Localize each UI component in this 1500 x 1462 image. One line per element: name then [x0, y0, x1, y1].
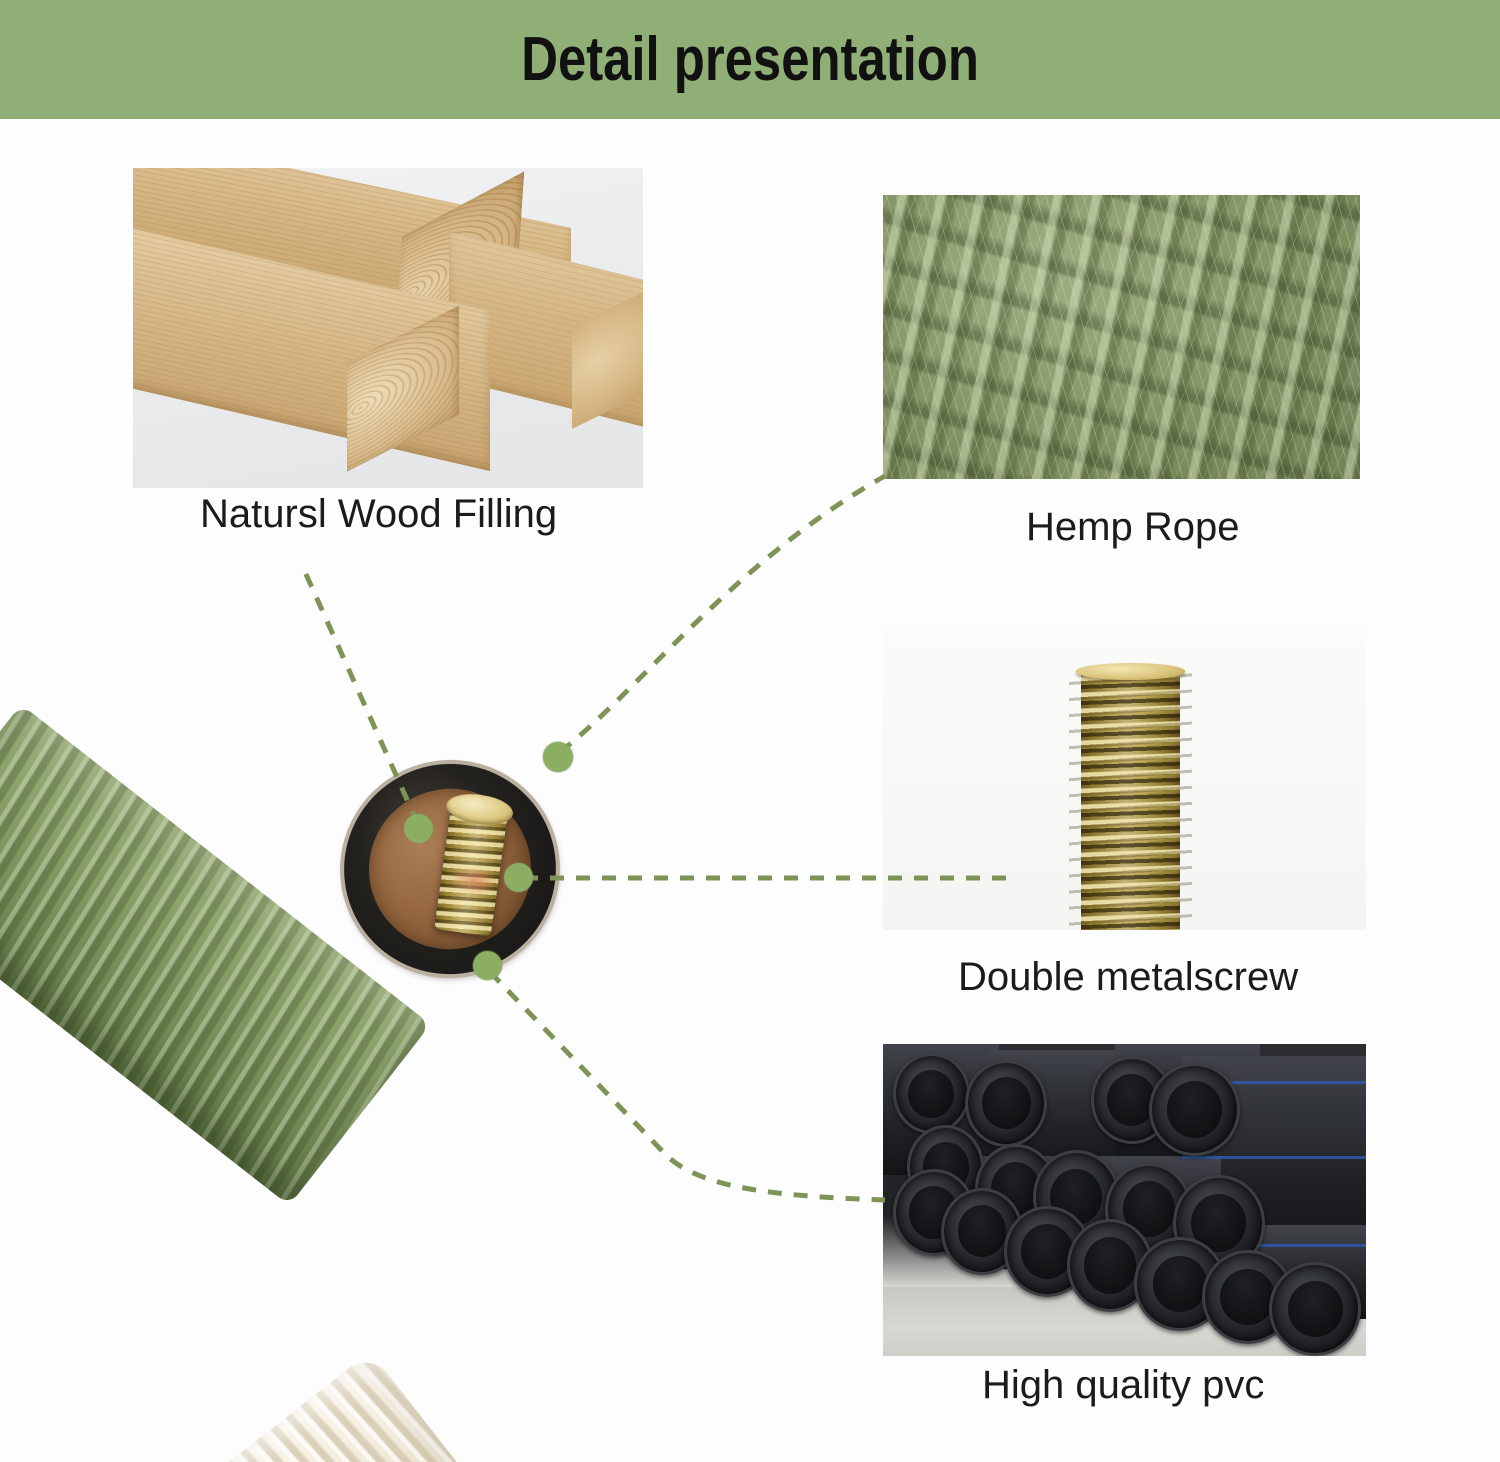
hemp-rope-photo [883, 195, 1360, 479]
screw-shaft [1081, 669, 1180, 930]
caption-wood: Natursl Wood Filling [200, 492, 557, 537]
pipe-opening [1149, 1063, 1241, 1157]
caption-metal-screw: Double metalscrew [958, 955, 1298, 1000]
page-title: Detail presentation [521, 29, 979, 91]
pipe-opening [893, 1053, 970, 1134]
pvc-pipes-photo [883, 1044, 1366, 1356]
detail-presentation-page: Detail presentation [0, 0, 1500, 1462]
header-banner: Detail presentation [0, 0, 1500, 119]
pipe-blue-stripe [1182, 1156, 1366, 1159]
pipe-opening [1269, 1262, 1361, 1356]
wood-stage [133, 168, 643, 488]
hemp-rope-stray-fibers [883, 195, 1360, 479]
metal-screw-hotspot[interactable] [504, 863, 533, 892]
caption-pvc: High quality pvc [982, 1363, 1264, 1408]
screw-head-top [1076, 663, 1185, 680]
hemp-rope-hotspot[interactable] [543, 742, 573, 772]
pipe-opening [965, 1060, 1047, 1147]
metal-screw-photo [883, 630, 1366, 930]
caption-hemp-rope: Hemp Rope [1026, 505, 1239, 550]
pvc-core-hotspot[interactable] [473, 951, 502, 980]
wooden-beams-photo [133, 168, 643, 488]
screw-threads [1081, 669, 1180, 930]
cream-sisal-rope-wrap [110, 1351, 515, 1462]
wood-core-hotspot[interactable] [404, 814, 433, 843]
